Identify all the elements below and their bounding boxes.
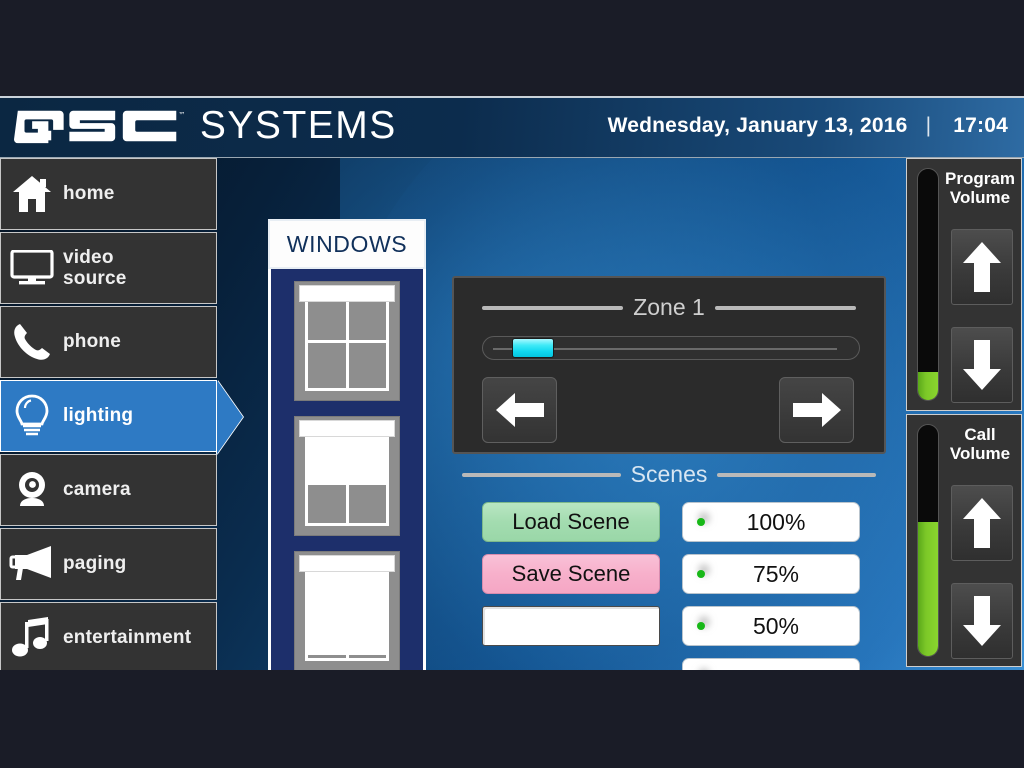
sidebar-item-video-source[interactable]: videosource [0, 232, 217, 304]
shade-half-closed[interactable] [294, 416, 400, 536]
window-mullion-horizontal [308, 340, 386, 343]
zone-previous-button[interactable] [482, 377, 557, 443]
shade-open[interactable] [294, 281, 400, 401]
lightbulb-icon [1, 394, 63, 438]
zone-level-slider[interactable] [482, 336, 860, 360]
sidebar-item-label: entertainment [63, 627, 191, 648]
call-volume-meter[interactable] [917, 424, 939, 657]
status-led-icon [697, 518, 705, 526]
sidebar-item-label: phone [63, 331, 121, 352]
sidebar-item-label: camera [63, 479, 131, 500]
windows-panel: WINDOWS [268, 219, 426, 670]
scene-actions-column: Load Scene Save Scene [482, 502, 660, 670]
sidebar-item-camera[interactable]: camera [0, 454, 217, 526]
scenes-section: Scenes Load Scene Save Scene 100%75%50%2… [452, 461, 886, 670]
left-arrow-icon [493, 389, 547, 431]
call-volume-fill [918, 522, 938, 656]
sidebar-item-lighting[interactable]: lighting [0, 380, 217, 452]
right-arrow-icon [790, 389, 844, 431]
call-volume-down-button[interactable] [951, 583, 1013, 659]
program-volume-up-button[interactable] [951, 229, 1013, 305]
windows-panel-header: WINDOWS [268, 219, 426, 269]
program-volume-title: ProgramVolume [941, 169, 1019, 207]
scene-preset-label: 100% [683, 509, 859, 536]
sidebar-item-home[interactable]: home [0, 158, 217, 230]
scene-preset-50pct[interactable]: 50% [682, 606, 860, 646]
music-note-icon [1, 617, 63, 659]
shade-frame [305, 561, 389, 661]
scenes-grid: Load Scene Save Scene 100%75%50%25%Off [452, 502, 886, 670]
scene-preset-75pct[interactable]: 75% [682, 554, 860, 594]
sidebar-nav: homevideosourcephonelightingcamerapaging… [0, 158, 217, 670]
shade-valance [299, 285, 395, 302]
active-indicator-arrow [217, 380, 243, 454]
scene-preset-label: 75% [683, 561, 859, 588]
brand-logo: ™ SYSTEMS [14, 104, 397, 148]
scene-preset-label: 50% [683, 613, 859, 640]
window-mullion-vertical [346, 482, 349, 523]
scene-preset-label: 25% [683, 665, 859, 671]
monitor-icon [1, 250, 63, 286]
window-mullion-horizontal [308, 482, 386, 485]
call-volume-up-button[interactable] [951, 485, 1013, 561]
shade-fabric [308, 564, 386, 652]
scene-presets-column: 100%75%50%25%Off [682, 502, 860, 670]
program-volume-panel: ProgramVolume [906, 158, 1022, 411]
svg-text:™: ™ [178, 110, 184, 119]
call-volume-title: CallVolume [941, 425, 1019, 463]
scene-name-input[interactable] [482, 606, 660, 646]
touch-panel-app: ™ SYSTEMS Wednesday, January 13, 2016 | … [0, 96, 1024, 670]
rule-left [462, 473, 621, 477]
windows-shade-list [268, 269, 426, 670]
program-volume-fill [918, 372, 938, 400]
sidebar-item-paging[interactable]: paging [0, 528, 217, 600]
save-scene-button[interactable]: Save Scene [482, 554, 660, 594]
rule-right [715, 306, 856, 310]
slider-thumb[interactable] [512, 338, 554, 358]
header-date: Wednesday, January 13, 2016 [608, 114, 908, 137]
down-arrow-icon [960, 337, 1004, 393]
program-volume-meter[interactable] [917, 168, 939, 401]
windows-panel-title: WINDOWS [287, 231, 407, 258]
scene-preset-100pct[interactable]: 100% [682, 502, 860, 542]
call-volume-panel: CallVolume [906, 414, 1022, 667]
zone-next-button[interactable] [779, 377, 854, 443]
brand-word: SYSTEMS [200, 104, 397, 148]
header-time: 17:04 [953, 114, 1008, 138]
shade-valance [299, 420, 395, 437]
program-volume-down-button[interactable] [951, 327, 1013, 403]
qsc-logo-icon: ™ [14, 105, 184, 147]
shade-frame [305, 291, 389, 391]
zone-title: Zone 1 [633, 294, 705, 321]
home-icon [1, 175, 63, 213]
sidebar-item-label: paging [63, 553, 126, 574]
app-header: ™ SYSTEMS Wednesday, January 13, 2016 | … [0, 96, 1024, 158]
up-arrow-icon [960, 239, 1004, 295]
megaphone-icon [1, 545, 63, 583]
shade-frame [305, 426, 389, 526]
status-led-icon [697, 622, 705, 630]
scenes-title: Scenes [631, 461, 708, 488]
sidebar-item-entertainment[interactable]: entertainment [0, 602, 217, 670]
sidebar-item-label: lighting [63, 405, 133, 426]
header-datetime: Wednesday, January 13, 2016 | 17:04 [608, 114, 1008, 138]
window-mullion-horizontal [308, 652, 386, 655]
shade-closed[interactable] [294, 551, 400, 670]
sidebar-item-label: home [63, 183, 114, 204]
sidebar-item-phone[interactable]: phone [0, 306, 217, 378]
scenes-title-rule: Scenes [452, 461, 886, 488]
rule-right [717, 473, 876, 477]
header-separator: | [926, 114, 932, 138]
status-led-icon [697, 570, 705, 578]
camera-icon [1, 470, 63, 510]
scene-preset-25pct[interactable]: 25% [682, 658, 860, 670]
shade-valance [299, 555, 395, 572]
phone-icon [1, 322, 63, 362]
zone-title-rule: Zone 1 [454, 294, 884, 321]
rule-left [482, 306, 623, 310]
load-scene-button[interactable]: Load Scene [482, 502, 660, 542]
sidebar-item-label: videosource [63, 247, 127, 290]
up-arrow-icon [960, 495, 1004, 551]
down-arrow-icon [960, 593, 1004, 649]
zone-panel: Zone 1 [452, 276, 886, 454]
